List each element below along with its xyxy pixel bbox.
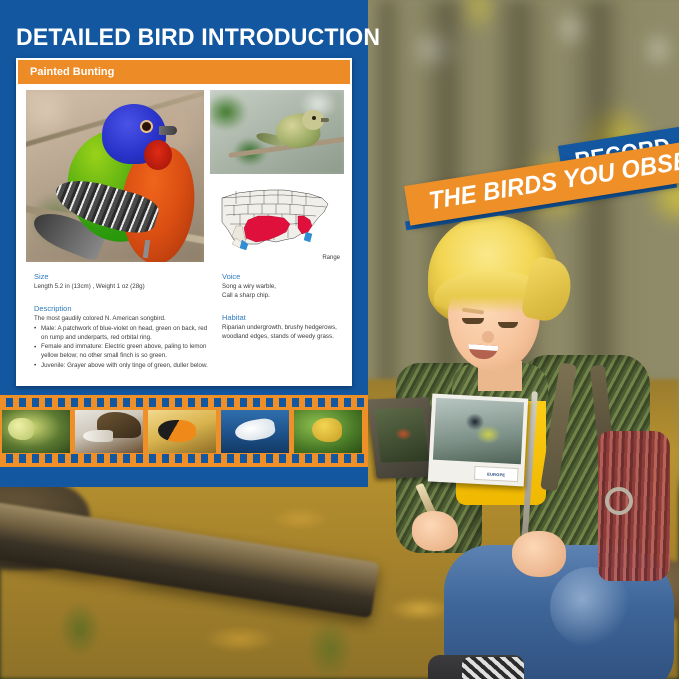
backpack-carabiner-icon	[605, 487, 633, 515]
boy-nose	[482, 331, 494, 343]
female-bird-eye	[312, 116, 316, 120]
bird-name-label: Painted Bunting	[30, 66, 114, 78]
bunting-eye	[142, 122, 151, 131]
field-guide-book: EUROPE	[372, 396, 528, 488]
list-item: Juvenile: Grayer above with only tinge o…	[34, 362, 212, 371]
card-header: Painted Bunting	[18, 60, 350, 84]
thumbnail-baltimore-oriole[interactable]	[148, 410, 216, 453]
bunting-red-throat	[144, 140, 172, 170]
page-title: DETAILED BIRD INTRODUCTION	[16, 24, 380, 52]
card-side-column: Range	[210, 90, 344, 262]
boy-hand-right	[512, 531, 566, 577]
voice-heading: Voice	[222, 272, 356, 281]
bird-thumbnail-filmstrip	[0, 395, 368, 467]
book-left-bird-photo	[374, 407, 429, 462]
card-right-text-column: Voice Song a wiry warble, Call a sharp c…	[222, 272, 356, 383]
book-right-bird-photo	[433, 398, 524, 465]
voice-section: Voice Song a wiry warble, Call a sharp c…	[222, 272, 356, 301]
range-map-label: Range	[322, 255, 340, 261]
thumbnail-yellow-oriole[interactable]	[294, 410, 362, 453]
range-map: Range	[210, 180, 344, 262]
size-section: Size Length 5.2 in (13cm) , Weight 1 oz …	[34, 272, 212, 292]
thumbnail-bald-eagle[interactable]	[75, 410, 143, 453]
voice-text: Song a wiry warble, Call a sharp chip.	[222, 283, 356, 301]
book-cover-label: EUROPE	[474, 466, 519, 482]
list-item: Male: A patchwork of blue-violet on head…	[34, 325, 212, 343]
book-right-page: EUROPE	[428, 394, 528, 487]
female-bird-photo	[210, 90, 344, 174]
filmstrip-perforations-bottom	[0, 454, 368, 463]
card-media-row: Range	[26, 90, 342, 262]
size-heading: Size	[34, 272, 212, 281]
screenshot-root: EUROPE DETAILED BIRD INTRODUCTION Painte…	[0, 0, 679, 679]
habitat-section: Habitat Riparian undergrowth, brushy hed…	[222, 313, 356, 342]
female-bird-beak	[321, 118, 329, 122]
description-bullet-list: Male: A patchwork of blue-violet on head…	[34, 325, 212, 371]
filmstrip-frames	[2, 410, 366, 453]
thumbnail-tern-in-flight[interactable]	[221, 410, 289, 453]
card-left-text-column: Size Length 5.2 in (13cm) , Weight 1 oz …	[34, 272, 212, 383]
boy-eye-right	[498, 322, 518, 328]
book-label-title: EUROPE	[487, 471, 505, 477]
card-body: Range Size Length 5.2 in (13cm) , Weight…	[18, 84, 350, 383]
main-bird-photo	[26, 90, 204, 262]
habitat-heading: Habitat	[222, 313, 356, 322]
filmstrip-perforations-top	[0, 398, 368, 407]
boy-hand-left	[412, 511, 458, 551]
left-info-panel: DETAILED BIRD INTRODUCTION Painted Bunti…	[0, 0, 368, 487]
list-item: Female and immature: Electric green abov…	[34, 343, 212, 361]
card-text-columns: Size Length 5.2 in (13cm) , Weight 1 oz …	[26, 262, 342, 383]
bird-info-card: Painted Bunting	[16, 58, 352, 386]
description-intro: The most gaudily colored N. American son…	[34, 315, 212, 324]
boy-eye-left	[462, 318, 484, 324]
thumbnail-green-finch[interactable]	[2, 410, 70, 453]
size-text: Length 5.2 in (13cm) , Weight 1 oz (28g)	[34, 283, 212, 292]
habitat-text: Riparian undergrowth, brushy hedgerows, …	[222, 324, 356, 342]
range-map-svg	[214, 182, 340, 252]
description-heading: Description	[34, 304, 212, 313]
bunting-beak	[159, 126, 177, 135]
description-section: Description The most gaudily colored N. …	[34, 304, 212, 371]
boot-pattern	[462, 657, 524, 679]
